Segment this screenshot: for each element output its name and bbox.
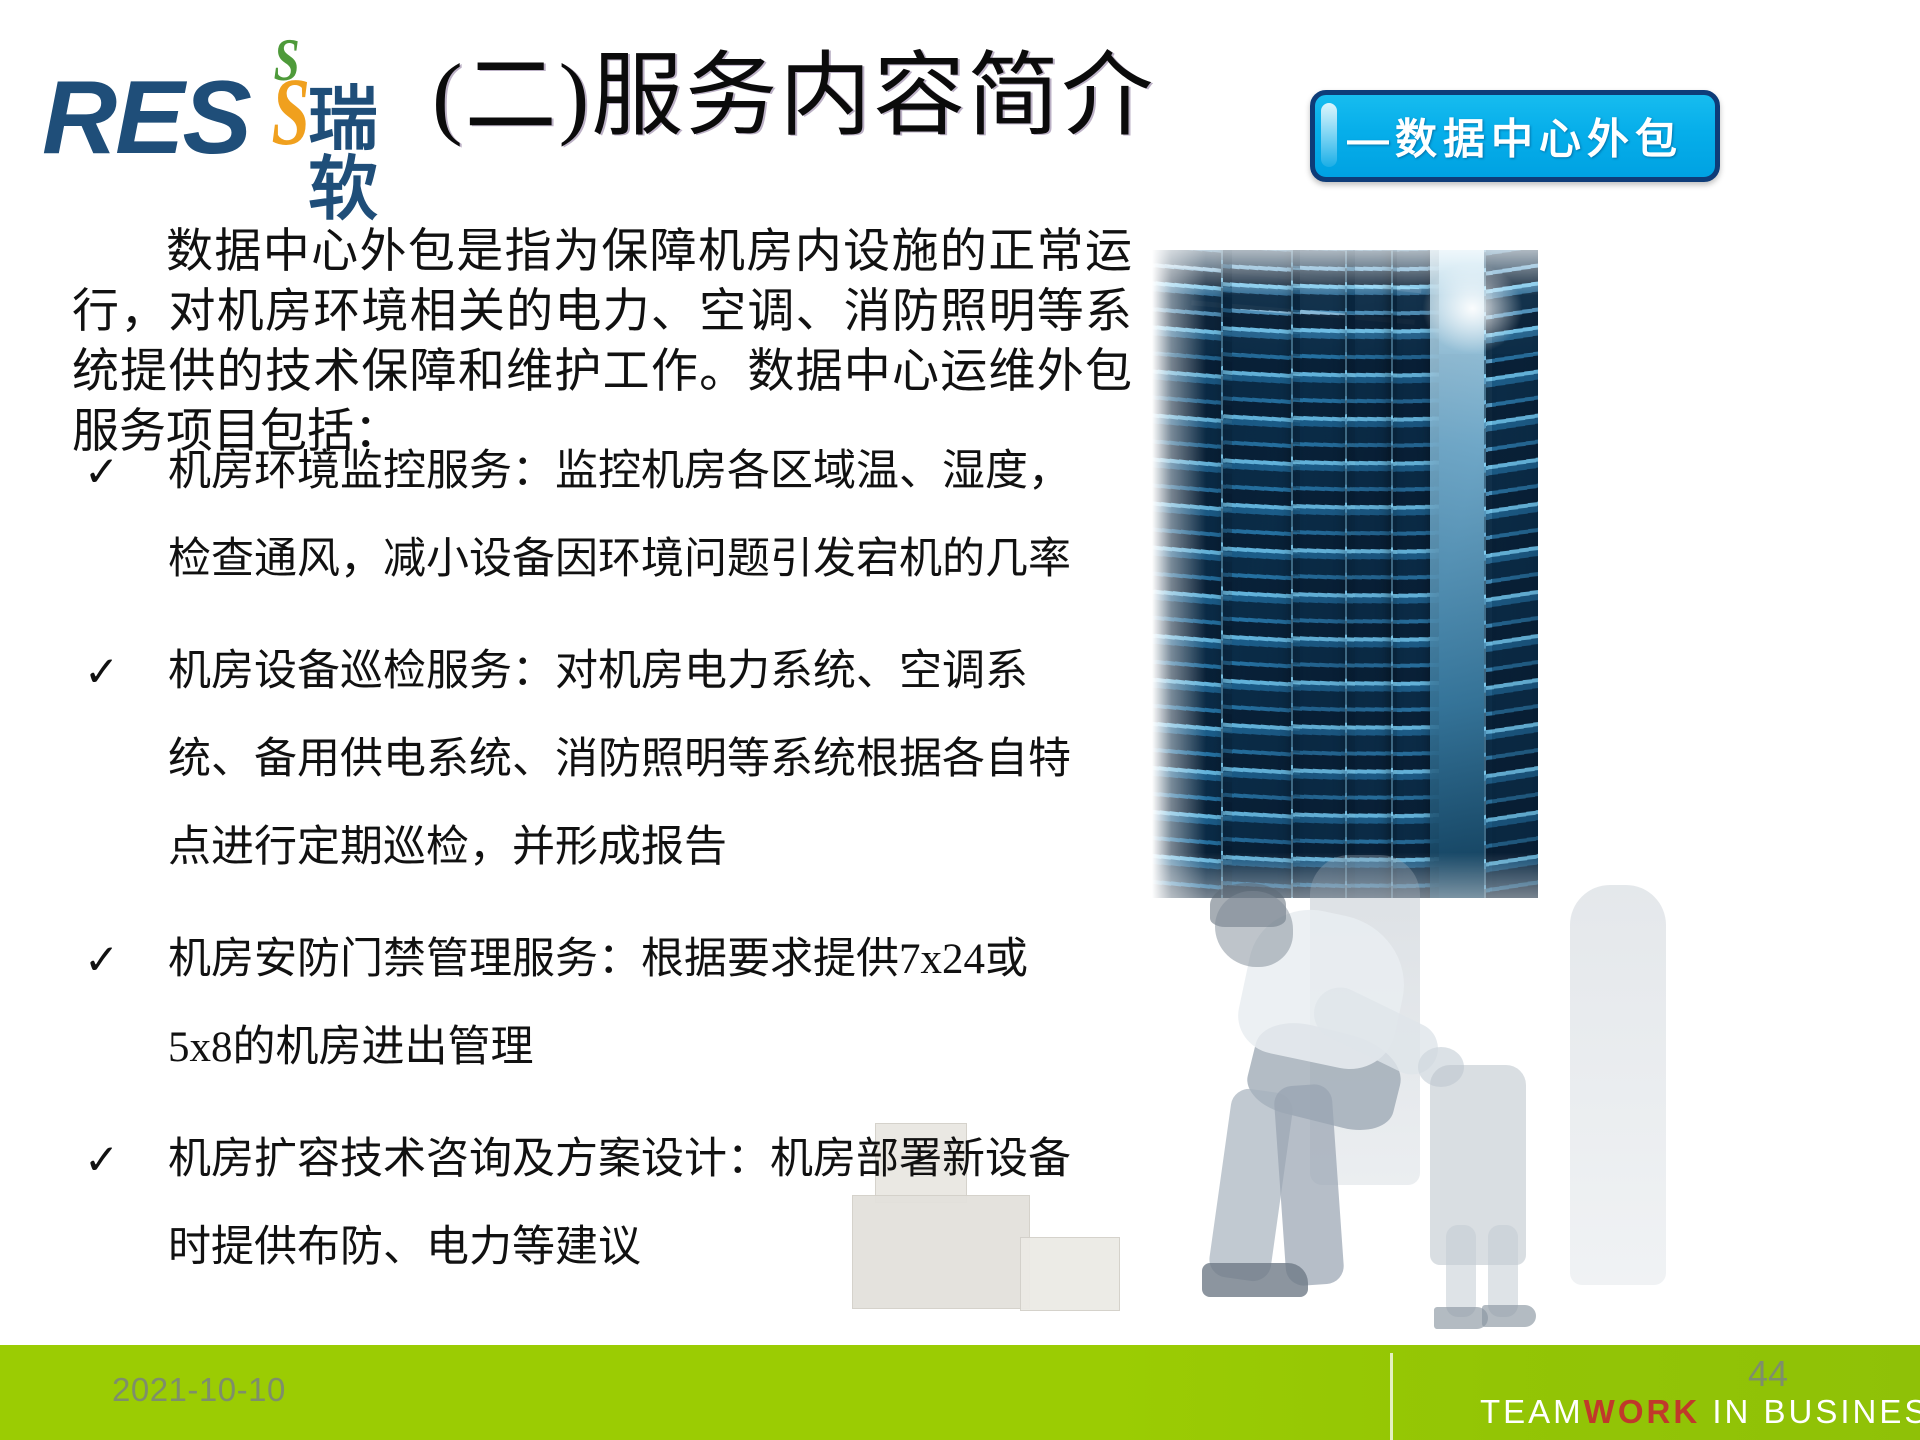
logo-company-name-cn: 瑞软 (308, 84, 380, 224)
man-leg (1273, 1083, 1345, 1287)
man-hand (1418, 1047, 1464, 1087)
list-item-text: 机房安防门禁管理服务：根据要求提供7x24或5x8的机房进出管理 (168, 936, 1028, 1071)
man-shoe (1202, 1263, 1308, 1297)
slide-footer: 2021-10-10 44 TEAMWORK IN BUSINESS (0, 1345, 1920, 1440)
man-head (1215, 891, 1293, 967)
tagline-highlight: WORK (1584, 1393, 1700, 1430)
background-person-silhouette (1570, 885, 1666, 1285)
list-item-text: 机房环境监控服务：监控机房各区域温、湿度，检查通风，减小设备因环境问题引发宕机的… (168, 448, 1071, 583)
woman-skirt (1430, 1065, 1526, 1265)
logo-s-orange-icon: S (271, 64, 309, 160)
man-hip (1241, 1013, 1409, 1139)
footer-tagline: TEAMWORK IN BUSINESS (1480, 1393, 1920, 1431)
section-badge: —数据中心外包 (1310, 90, 1720, 182)
list-item-text: 机房扩容技术咨询及方案设计：机房部署新设备时提供布防、电力等建议 (168, 1136, 1071, 1271)
check-icon: ✓ (84, 916, 119, 1004)
company-logo: RES S S 瑞软 (42, 22, 372, 150)
list-item-text: 机房设备巡检服务：对机房电力系统、空调系统、备用供电系统、消防照明等系统根据各自… (168, 648, 1071, 871)
server-rack (1152, 250, 1231, 898)
check-icon: ✓ (84, 428, 119, 516)
tagline-part-2: IN BUSINESS (1700, 1393, 1920, 1430)
footer-date: 2021-10-10 (112, 1371, 286, 1409)
man-leg (1207, 1087, 1295, 1284)
background-person-silhouette (1310, 855, 1420, 1185)
slide-header: RES S S 瑞软 (二)服务内容简介 —数据中心外包 (0, 0, 1920, 200)
section-badge-label: —数据中心外包 (1315, 106, 1715, 167)
list-item: ✓ 机房安防门禁管理服务：根据要求提供7x24或5x8的机房进出管理 (72, 916, 1082, 1092)
server-room-photo (1152, 250, 1538, 898)
intro-paragraph: 数据中心外包是指为保障机房内设施的正常运行，对机房环境相关的电力、空调、消防照明… (72, 222, 1132, 462)
logo-res-text: RES (42, 66, 250, 170)
people-decoration (1010, 855, 1750, 1335)
page-title: (二)服务内容简介 (432, 42, 1155, 150)
ceiling-glow (1422, 263, 1522, 354)
slide-canvas: RES S S 瑞软 (二)服务内容简介 —数据中心外包 (0, 0, 1920, 1440)
check-icon: ✓ (84, 628, 119, 716)
footer-divider (1390, 1353, 1393, 1440)
woman-shoe (1434, 1307, 1488, 1329)
check-icon: ✓ (84, 1116, 119, 1204)
list-item: ✓ 机房扩容技术咨询及方案设计：机房部署新设备时提供布防、电力等建议 (72, 1116, 1082, 1292)
server-rack (1221, 250, 1300, 898)
man-arm (1305, 979, 1446, 1084)
woman-leg (1446, 1225, 1476, 1317)
server-rack (1345, 250, 1397, 898)
service-bullet-list: ✓ 机房环境监控服务：监控机房各区域温、湿度，检查通风，减小设备因环境问题引发宕… (72, 428, 1082, 1316)
man-torso (1231, 898, 1417, 1078)
woman-shoe (1482, 1305, 1536, 1327)
woman-leg (1488, 1225, 1518, 1317)
list-item: ✓ 机房设备巡检服务：对机房电力系统、空调系统、备用供电系统、消防照明等系统根据… (72, 628, 1082, 892)
list-item: ✓ 机房环境监控服务：监控机房各区域温、湿度，检查通风，减小设备因环境问题引发宕… (72, 428, 1082, 604)
page-number: 44 (1748, 1353, 1788, 1395)
tagline-part-1: TEAM (1480, 1393, 1584, 1430)
